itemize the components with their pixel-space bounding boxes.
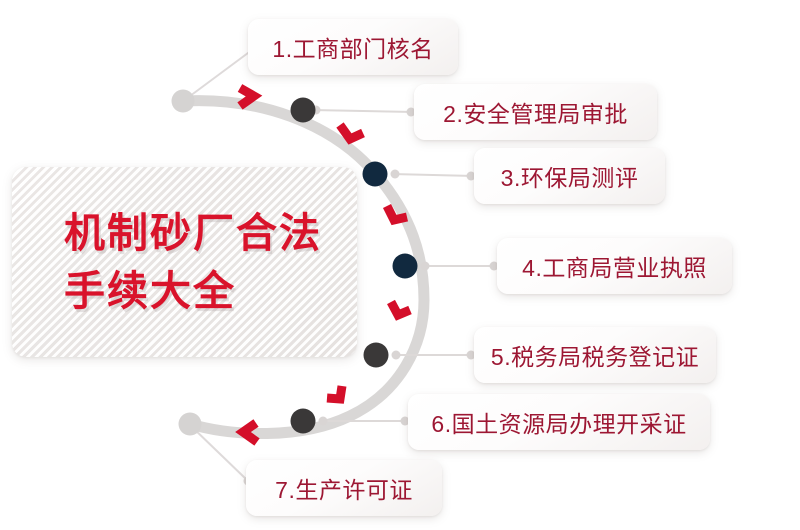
step-node-6[interactable] <box>291 409 316 434</box>
step-label-3: 3.环保局测评 <box>501 159 639 193</box>
step-card-4[interactable]: 4.工商局营业执照 <box>497 238 732 294</box>
step-node-5[interactable] <box>364 343 389 368</box>
step-node-4[interactable] <box>393 254 418 279</box>
flow-arrow-2-icon <box>340 125 363 139</box>
flow-arrow-4-icon <box>391 302 410 315</box>
flow-endpoint-start-dot <box>172 90 195 113</box>
title-panel: 机制砂厂合法 手续大全 <box>12 167 357 357</box>
step-card-7[interactable]: 7.生产许可证 <box>246 460 442 516</box>
step-label-1: 1.工商部门核名 <box>272 30 433 64</box>
connector-nub-node-4 <box>421 262 430 271</box>
page-title-line-2: 手续大全 <box>64 262 357 320</box>
flow-arrow-5-icon <box>327 386 342 399</box>
step-card-6[interactable]: 6.国土资源局办理开采证 <box>408 394 710 450</box>
flow-endpoint-finish-dot <box>179 413 202 436</box>
step-label-2: 2.安全管理局审批 <box>443 95 628 129</box>
step-card-5[interactable]: 5.税务局税务登记证 <box>474 327 716 383</box>
step-card-1[interactable]: 1.工商部门核名 <box>248 19 458 75</box>
connector-line-3 <box>392 174 474 176</box>
step-label-7: 7.生产许可证 <box>275 471 413 505</box>
connector-line-2 <box>312 110 414 112</box>
step-card-3[interactable]: 3.环保局测评 <box>474 148 665 204</box>
step-label-6: 6.国土资源局办理开采证 <box>431 405 686 439</box>
step-card-2[interactable]: 2.安全管理局审批 <box>414 84 657 140</box>
step-node-3[interactable] <box>363 162 388 187</box>
connector-nub-node-6 <box>319 417 328 426</box>
page-title-line-1: 机制砂厂合法 <box>64 204 357 262</box>
infographic-canvas: 机制砂厂合法 手续大全 1.工商部门核名 2.安全管理局审批 3.环保局测评 4… <box>0 0 800 530</box>
connector-nub-node-3 <box>391 170 400 179</box>
step-label-5: 5.税务局税务登记证 <box>491 338 699 372</box>
step-label-4: 4.工商局营业执照 <box>522 249 707 283</box>
connector-nub-node-5 <box>392 351 401 360</box>
step-node-2[interactable] <box>291 98 316 123</box>
